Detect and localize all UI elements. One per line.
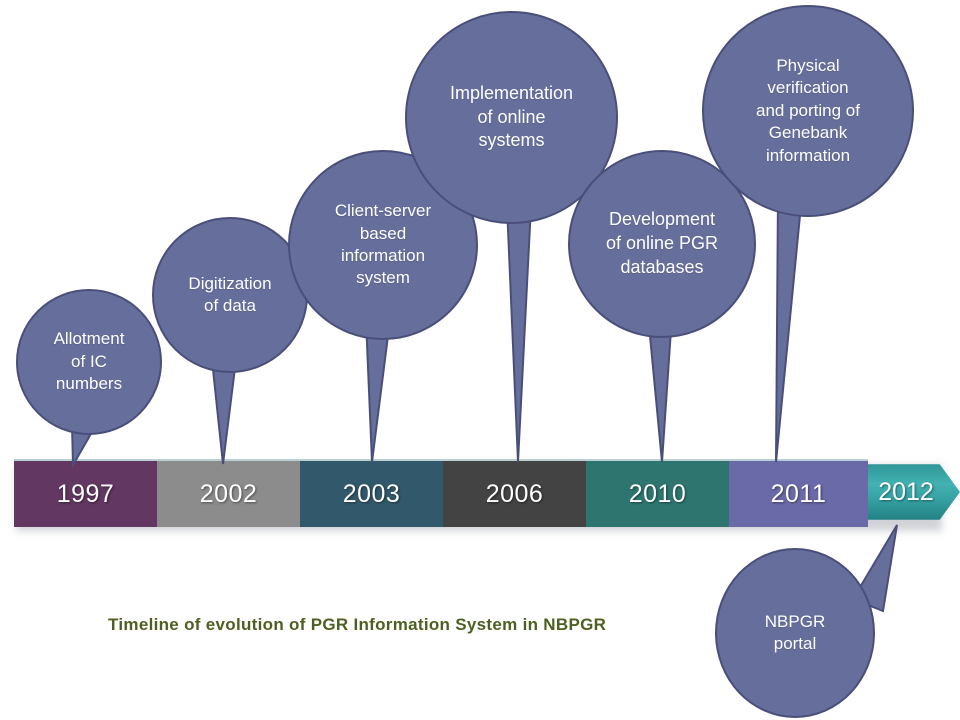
segment-year-label: 2006 (486, 480, 544, 509)
callout-text: NBPGR portal (755, 611, 835, 656)
callout-bubble-allotment-of-ic-numbers[interactable]: Allotment of IC numbers (16, 289, 162, 435)
callout-tail-icon (758, 195, 822, 462)
timeline-segment-1997[interactable]: 1997 (14, 459, 157, 527)
callout-bubble-digitization-of-data[interactable]: Digitization of data (152, 217, 308, 373)
callout-tail-icon (489, 206, 549, 462)
segment-year-label: 2012 (878, 478, 934, 507)
callout-text: Digitization of data (178, 273, 281, 318)
timeline-segment-2006[interactable]: 2006 (443, 459, 586, 527)
callout-text: Development of online PGR databases (596, 208, 728, 279)
callout-tail-icon (352, 320, 404, 462)
timeline-segment-2003[interactable]: 2003 (300, 459, 443, 527)
segment-year-label: 2003 (343, 480, 401, 509)
callout-bubble-physical-verification-and-porting-of-genebank-information[interactable]: Physical verification and porting of Gen… (702, 5, 914, 217)
callout-text: Implementation of online systems (440, 82, 583, 153)
timeline-diagram: Allotment of IC numbersDigitization of d… (0, 0, 960, 720)
segment-year-label: 1997 (57, 480, 115, 509)
callout-text: Client-server based information system (325, 200, 441, 290)
diagram-caption: Timeline of evolution of PGR Information… (108, 615, 606, 635)
callout-tail-icon (198, 360, 250, 464)
callout-text: Physical verification and porting of Gen… (746, 55, 870, 167)
timeline-segment-2002[interactable]: 2002 (157, 459, 300, 527)
segment-year-label: 2011 (771, 480, 827, 509)
timeline-segment-2010[interactable]: 2010 (586, 459, 729, 527)
segment-year-label: 2002 (200, 480, 258, 509)
callout-text: Allotment of IC numbers (44, 328, 135, 395)
callout-bubble-nbpgr-portal[interactable]: NBPGR portal (715, 548, 875, 718)
segment-year-label: 2010 (629, 480, 687, 509)
